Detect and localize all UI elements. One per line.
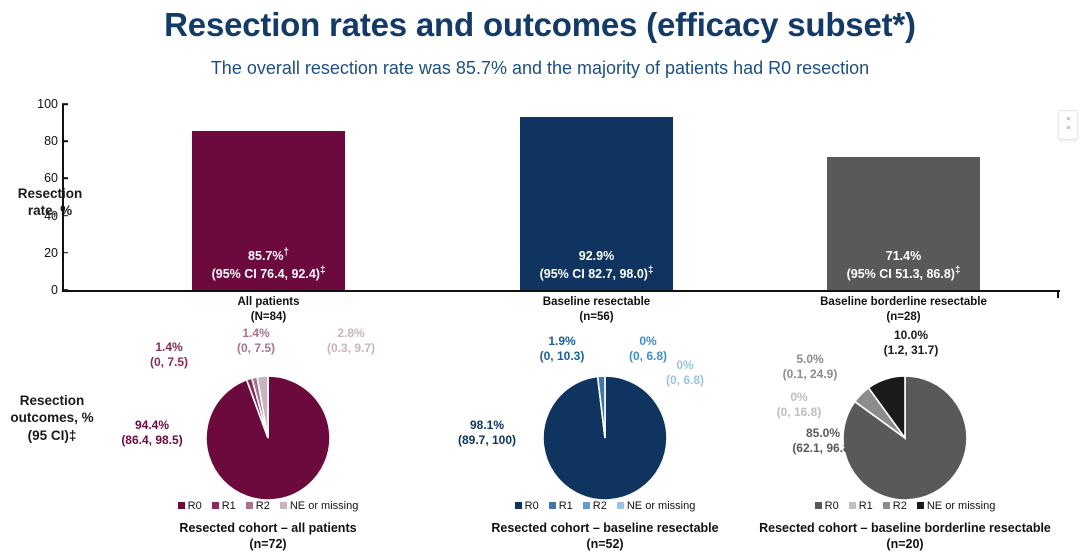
- legend-label: R0: [525, 500, 539, 512]
- legend-item[interactable]: NE or missing: [617, 500, 695, 512]
- pie-callout-pct: 1.9%: [548, 334, 575, 348]
- y-axis-tick-mark: [62, 252, 68, 254]
- pie-callout-pct: 0%: [639, 334, 656, 348]
- bar-value-pct: 71.4%: [886, 249, 921, 263]
- legend-label: NE or missing: [290, 500, 358, 512]
- pie-caption-n: (n=52): [586, 537, 623, 551]
- pie-caption-n: (n=72): [249, 537, 286, 551]
- legend-swatch: [849, 502, 856, 509]
- y-axis-tick-label: 100: [20, 97, 58, 111]
- legend-item[interactable]: R1: [549, 500, 573, 512]
- pie-callout-ci: (0, 10.3): [540, 349, 585, 363]
- pie-callout: 10.0%(1.2, 31.7): [851, 328, 971, 359]
- y-axis-tick-label: 80: [20, 134, 58, 148]
- pie-callout: 94.4%(86.4, 98.5): [92, 418, 212, 449]
- pie-callout-ci: (0, 6.8): [666, 373, 704, 387]
- y-axis-tick-label: 60: [20, 171, 58, 185]
- bar-category-name: Baseline borderline resectable: [820, 296, 987, 308]
- pie-callout-pct: 1.4%: [155, 340, 182, 354]
- pie-callout-pct: 2.8%: [337, 326, 364, 340]
- pie-callout-ci: (0, 7.5): [150, 355, 188, 369]
- pie-callout-ci: (0.1, 24.9): [783, 367, 838, 381]
- pie-legend: R0R1R2NE or missing: [725, 500, 1080, 512]
- legend-swatch: [815, 502, 822, 509]
- pie-chart-baseline-borderline-resectable: 85.0%(62.1, 96.8)0%(0, 16.8)5.0%(0.1, 24…: [725, 330, 1080, 560]
- pie-callout: 98.1%(89.7, 100): [427, 418, 547, 449]
- pie-callout-ci: (62.1, 96.8): [792, 441, 853, 455]
- pie-chart-all-patients: 94.4%(86.4, 98.5)1.4%(0, 7.5)1.4%(0, 7.5…: [88, 330, 448, 560]
- bar: 92.9%(95% CI 82.7, 98.0)‡: [520, 117, 673, 290]
- y-axis-tick-mark: [62, 140, 68, 142]
- pie-caption-n: (n=20): [886, 537, 923, 551]
- legend-swatch: [515, 502, 522, 509]
- x-axis-end-cap: [1057, 290, 1059, 298]
- pie-callout-pct: 94.4%: [135, 418, 169, 432]
- y-axis-line: [62, 104, 64, 291]
- bar-value-pct: 92.9%: [579, 249, 614, 263]
- pie-callout-pct: 98.1%: [470, 418, 504, 432]
- bar-chart: 020406080100 85.7%†(95% CI 76.4, 92.4)‡A…: [0, 95, 1080, 310]
- legend-swatch: [178, 502, 185, 509]
- y-axis-tick-mark: [62, 103, 68, 105]
- legend-swatch: [549, 502, 556, 509]
- legend-label: R1: [559, 500, 573, 512]
- pie-callout-ci: (0, 16.8): [777, 405, 822, 419]
- legend-swatch: [617, 502, 624, 509]
- pie-callout-pct: 0%: [790, 390, 807, 404]
- legend-item[interactable]: R0: [515, 500, 539, 512]
- legend-label: R2: [893, 500, 907, 512]
- pie-callout: 85.0%(62.1, 96.8): [763, 426, 883, 457]
- pie-callout: 5.0%(0.1, 24.9): [757, 352, 863, 383]
- legend-label: R1: [859, 500, 873, 512]
- pie-callout-ci: (0, 7.5): [237, 341, 275, 355]
- y-axis-tick-label: 20: [20, 246, 58, 260]
- legend-item[interactable]: NE or missing: [280, 500, 358, 512]
- legend-label: R2: [256, 500, 270, 512]
- bar-value-label: 71.4%(95% CI 51.3, 86.8)‡: [799, 247, 1008, 282]
- y-axis-tick-label: 40: [20, 209, 58, 223]
- pie-caption-title: Resected cohort – baseline resectable: [491, 521, 718, 535]
- pie-legend: R0R1R2NE or missing: [88, 500, 448, 512]
- legend-label: NE or missing: [627, 500, 695, 512]
- pie-caption-title: Resected cohort – all patients: [179, 521, 356, 535]
- pie-callout-ci: (1.2, 31.7): [884, 343, 939, 357]
- legend-item[interactable]: R0: [178, 500, 202, 512]
- bar-category-label: All patients(N=84): [132, 295, 405, 325]
- bar-category-label: Baseline resectable(n=56): [460, 295, 733, 325]
- pie-caption: Resected cohort – baseline borderline re…: [725, 520, 1080, 553]
- legend-item[interactable]: R2: [883, 500, 907, 512]
- pie-row-axis-label-text: Resection outcomes, % (95 CI)‡: [10, 393, 93, 443]
- bar: 85.7%†(95% CI 76.4, 92.4)‡: [192, 131, 345, 290]
- slide-root: Resection rates and outcomes (efficacy s…: [0, 0, 1080, 560]
- legend-item[interactable]: R1: [212, 500, 236, 512]
- legend-item[interactable]: R2: [246, 500, 270, 512]
- bar-category-name: All patients: [238, 296, 300, 308]
- pie-caption: Resected cohort – all patients(n=72): [88, 520, 448, 553]
- legend-item[interactable]: R0: [815, 500, 839, 512]
- bar-ci-label: (95% CI 51.3, 86.8)‡: [847, 267, 961, 281]
- legend-swatch: [583, 502, 590, 509]
- pie-callout: 0%(0, 6.8): [637, 358, 733, 389]
- bar-category-n: (n=28): [886, 311, 920, 323]
- legend-item[interactable]: R1: [849, 500, 873, 512]
- legend-item[interactable]: R2: [583, 500, 607, 512]
- legend-label: R0: [188, 500, 202, 512]
- x-axis-line: [62, 290, 1060, 292]
- pie-caption-title: Resected cohort – baseline borderline re…: [759, 521, 1051, 535]
- legend-swatch: [883, 502, 890, 509]
- page-title: Resection rates and outcomes (efficacy s…: [0, 6, 1080, 44]
- legend-swatch: [917, 502, 924, 509]
- y-axis-tick-mark: [62, 178, 68, 180]
- pie-graphic: [198, 368, 338, 508]
- pie-callout-pct: 10.0%: [894, 328, 928, 342]
- bar-value-label: 92.9%(95% CI 82.7, 98.0)‡: [492, 247, 701, 282]
- pie-callout-pct: 1.4%: [242, 326, 269, 340]
- pie-row-axis-label: Resection outcomes, % (95 CI)‡: [2, 392, 102, 444]
- bar-category-n: (n=56): [579, 311, 613, 323]
- y-axis-tick-mark: [62, 215, 68, 217]
- legend-label: R2: [593, 500, 607, 512]
- y-axis-tick-mark: [62, 289, 68, 291]
- pie-callout-pct: 5.0%: [796, 352, 823, 366]
- legend-swatch: [246, 502, 253, 509]
- y-axis-tick-label: 0: [20, 283, 58, 297]
- bar-ci-label: (95% CI 76.4, 92.4)‡: [212, 267, 326, 281]
- pie-callout-ci: (86.4, 98.5): [121, 433, 182, 447]
- pie-callout: 1.9%(0, 10.3): [507, 334, 617, 365]
- pie-callout: 0%(0, 16.8): [749, 390, 849, 421]
- bar: 71.4%(95% CI 51.3, 86.8)‡: [827, 157, 980, 290]
- legend-label: R1: [222, 500, 236, 512]
- legend-swatch: [212, 502, 219, 509]
- bar-value-pct: 85.7%†: [248, 249, 289, 263]
- bar-category-n: (N=84): [251, 311, 286, 323]
- pie-callout-pct: 0%: [676, 358, 693, 372]
- bar-category-name: Baseline resectable: [543, 296, 650, 308]
- page-subtitle: The overall resection rate was 85.7% and…: [0, 58, 1080, 79]
- pie-callout-ci: (89.7, 100): [458, 433, 516, 447]
- legend-label: R0: [825, 500, 839, 512]
- legend-swatch: [280, 502, 287, 509]
- pie-callout-pct: 85.0%: [806, 426, 840, 440]
- bar-value-label: 85.7%†(95% CI 76.4, 92.4)‡: [164, 247, 373, 282]
- edge-overlay-panel[interactable]: [1058, 110, 1078, 140]
- legend-label: NE or missing: [927, 500, 995, 512]
- pie-graphic: [535, 368, 675, 508]
- bar-category-label: Baseline borderline resectable(n=28): [767, 295, 1040, 325]
- pie-callout: 1.4%(0, 7.5): [206, 326, 306, 357]
- legend-item[interactable]: NE or missing: [917, 500, 995, 512]
- pie-callout-ci: (0.3, 9.7): [327, 341, 375, 355]
- pie-callout: 2.8%(0.3, 9.7): [296, 326, 406, 357]
- bar-ci-label: (95% CI 82.7, 98.0)‡: [540, 267, 654, 281]
